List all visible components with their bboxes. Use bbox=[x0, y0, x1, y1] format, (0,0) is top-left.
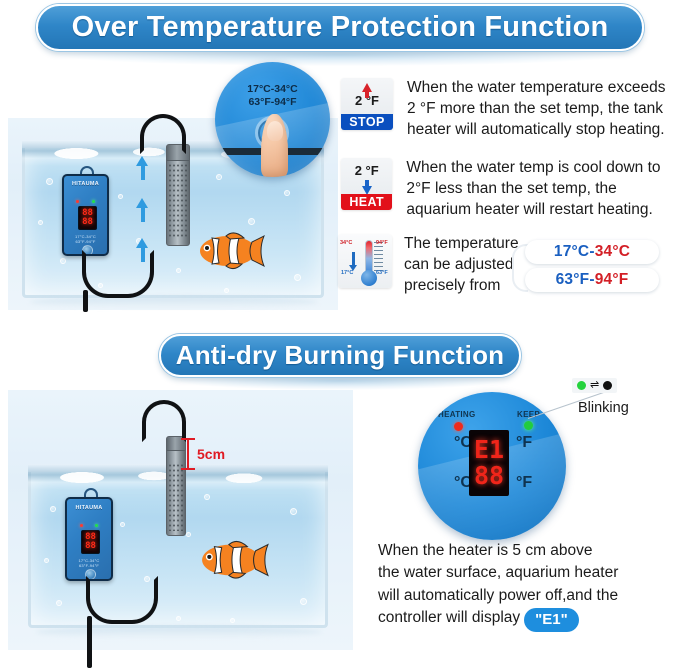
bubble bbox=[224, 288, 229, 293]
display-second-line: 88 bbox=[474, 464, 504, 488]
tank-reflection-2 bbox=[36, 626, 322, 638]
desc-line-1: When the heater is 5 cm above bbox=[378, 540, 674, 562]
section-title-banner-over-temperature: Over Temperature Protection Function bbox=[36, 4, 644, 51]
led-display-panel: E1 88 bbox=[469, 430, 509, 496]
controller-brand-label: HITAUMA bbox=[64, 181, 107, 187]
led-green-icon bbox=[577, 381, 586, 390]
thermometer-down-arrow-icon bbox=[352, 252, 355, 265]
bubble bbox=[38, 220, 43, 225]
unit-fahrenheit-bottom: °F bbox=[516, 474, 532, 492]
range-pill-celsius: 17°C-34°C bbox=[525, 240, 659, 264]
bubble bbox=[290, 508, 297, 515]
range-description-text: The temperature can be adjusted precisel… bbox=[404, 234, 524, 296]
stop-description-text: When the water temperature exceeds 2 °F … bbox=[407, 78, 671, 140]
bubble bbox=[60, 258, 66, 264]
heating-led-icon-2 bbox=[80, 524, 83, 527]
heat-strip-label: HEAT bbox=[341, 194, 392, 210]
power-cord-2 bbox=[87, 616, 92, 668]
display-error-code: E1 bbox=[474, 438, 504, 462]
desc-line-2: the water surface, aquarium heater bbox=[378, 562, 674, 584]
feature-row-stop: 2 °F STOP When the water temperature exc… bbox=[341, 78, 673, 140]
bubble bbox=[50, 506, 56, 512]
banner-title-text-2: Anti-dry Burning Function bbox=[176, 340, 505, 371]
bubble bbox=[248, 218, 255, 225]
heat-badge-icon: 2 °F HEAT bbox=[341, 158, 392, 210]
flow-indicator bbox=[141, 164, 145, 180]
heater-power-cable bbox=[140, 114, 186, 154]
clownfish-2 bbox=[198, 538, 270, 582]
aquarium-heater-rod bbox=[166, 144, 190, 246]
bubble bbox=[186, 532, 191, 537]
flow-arrow-icon bbox=[136, 238, 148, 248]
measure-bar-vertical bbox=[187, 438, 189, 470]
bubble bbox=[176, 616, 181, 621]
arrow-up-icon bbox=[362, 83, 372, 92]
heater-power-cable-2 bbox=[142, 400, 186, 442]
bubble bbox=[230, 618, 235, 623]
bubble bbox=[118, 194, 123, 199]
controller-display-2: 88 88 bbox=[81, 530, 100, 554]
bubble bbox=[294, 274, 301, 281]
anti-dry-description: When the heater is 5 cm above the water … bbox=[378, 540, 674, 632]
section-title-banner-anti-dry: Anti-dry Burning Function bbox=[159, 334, 521, 377]
unit-fahrenheit-top: °F bbox=[516, 434, 532, 452]
heater-controller-device[interactable]: HITAUMA 88 88 17°C-34°C 63°F-94°F bbox=[62, 174, 109, 256]
heating-led-icon bbox=[76, 200, 79, 203]
error-code-badge: "E1" bbox=[524, 608, 579, 632]
controller-led-row bbox=[64, 200, 107, 203]
keep-led-icon bbox=[92, 200, 95, 203]
desc-line-3: will automatically power off,and the bbox=[378, 585, 674, 607]
power-cord bbox=[83, 290, 88, 312]
bubble bbox=[284, 190, 290, 196]
pill-fahrenheit-low: 63°F bbox=[556, 271, 590, 289]
led-off-icon bbox=[603, 381, 612, 390]
controller-range-line-2-b: 63°F-94°F bbox=[67, 563, 111, 568]
controller-led-row-2 bbox=[67, 524, 111, 527]
flow-indicator bbox=[141, 206, 145, 222]
finger-touch-icon bbox=[261, 114, 288, 177]
thermometer-tube bbox=[365, 240, 373, 274]
bubble bbox=[204, 494, 210, 500]
controller-display: 88 88 bbox=[78, 206, 97, 230]
thermometer-ticks bbox=[374, 242, 383, 272]
thermometer-bulb bbox=[361, 270, 377, 286]
pill-celsius-high: 34°C bbox=[595, 243, 630, 261]
toggle-arrows-icon: ⇌ bbox=[590, 380, 599, 391]
clownfish bbox=[196, 230, 266, 272]
heater-grill bbox=[168, 163, 188, 239]
heater-grill-2 bbox=[168, 463, 184, 531]
heat-badge-value: 2 °F bbox=[355, 163, 379, 178]
bubble bbox=[44, 558, 49, 563]
fingernail bbox=[267, 121, 283, 141]
heater-controller-device-2[interactable]: HITAUMA 88 88 17°C-34°C 63°F-94°F bbox=[65, 497, 113, 581]
bubble bbox=[56, 600, 62, 606]
stop-badge-icon: 2 °F STOP bbox=[341, 78, 393, 130]
controller-power-cable bbox=[82, 250, 154, 298]
heat-description-text: When the water temp is cool down to 2°F … bbox=[406, 158, 673, 220]
infographic-root: Over Temperature Protection Function bbox=[0, 0, 679, 669]
feature-row-heat: 2 °F HEAT When the water temp is cool do… bbox=[341, 158, 673, 220]
measure-label-5cm: 5cm bbox=[197, 446, 225, 462]
range-pill-fahrenheit: 63°F-94°F bbox=[525, 268, 659, 292]
flow-arrow-icon bbox=[136, 198, 148, 208]
aquarium-scene-bottom: HITAUMA 88 88 17°C-34°C 63°F-94°F bbox=[8, 390, 353, 650]
tank-reflection bbox=[30, 296, 318, 308]
controller-range-line-2: 63°F-94°F bbox=[64, 239, 107, 244]
stop-strip-label: STOP bbox=[341, 114, 393, 130]
thermometer-icon: 34°C 94°F 17°C 63°F bbox=[338, 234, 392, 288]
measure-tick-top bbox=[181, 438, 195, 440]
measure-tick-bottom bbox=[181, 468, 195, 470]
magnifier-line-2: 63°F-94°F bbox=[215, 96, 330, 109]
blinking-label: Blinking bbox=[578, 400, 629, 416]
display-bottom-digits-2: 88 bbox=[85, 542, 96, 551]
magnifier-touch-button: 17°C-34°C 63°F-94°F bbox=[215, 62, 330, 177]
bubble bbox=[120, 522, 125, 527]
heating-label: HEATING bbox=[438, 410, 476, 419]
thermo-hot-celsius: 34°C bbox=[340, 240, 352, 246]
bubble bbox=[300, 598, 307, 605]
thermo-cold-celsius: 17°C bbox=[341, 270, 353, 276]
keep-led-icon-2 bbox=[95, 524, 98, 527]
thermo-cold-fahrenheit: 63°F bbox=[376, 270, 388, 276]
controller-brand-label-2: HITAUMA bbox=[67, 505, 111, 511]
aquarium-heater-rod-2 bbox=[166, 436, 186, 536]
magnifier-line-1: 17°C-34°C bbox=[215, 83, 330, 96]
magnifier-range-text: 17°C-34°C 63°F-94°F bbox=[215, 83, 330, 109]
pill-fahrenheit-high: 94°F bbox=[595, 271, 629, 289]
controller-display-magnified: HEATING KEEP °C °F °C °F E1 88 bbox=[418, 392, 566, 540]
heating-led-indicator bbox=[454, 422, 463, 431]
controller-power-cable-2 bbox=[86, 576, 158, 624]
desc-line-4: controller will display bbox=[378, 609, 520, 626]
thermo-hot-fahrenheit: 94°F bbox=[376, 240, 388, 246]
blinking-indicator-icon: ⇌ bbox=[572, 378, 617, 393]
display-bottom-digits: 88 bbox=[82, 218, 93, 227]
flow-arrow-icon bbox=[136, 156, 148, 166]
desc-line-4-wrapper: controller will display"E1" bbox=[378, 607, 674, 632]
pill-celsius-low: 17°C bbox=[554, 243, 589, 261]
bubble bbox=[176, 268, 181, 273]
banner-title-text: Over Temperature Protection Function bbox=[72, 11, 609, 44]
keep-led-indicator bbox=[524, 421, 533, 430]
bubble bbox=[46, 178, 53, 185]
